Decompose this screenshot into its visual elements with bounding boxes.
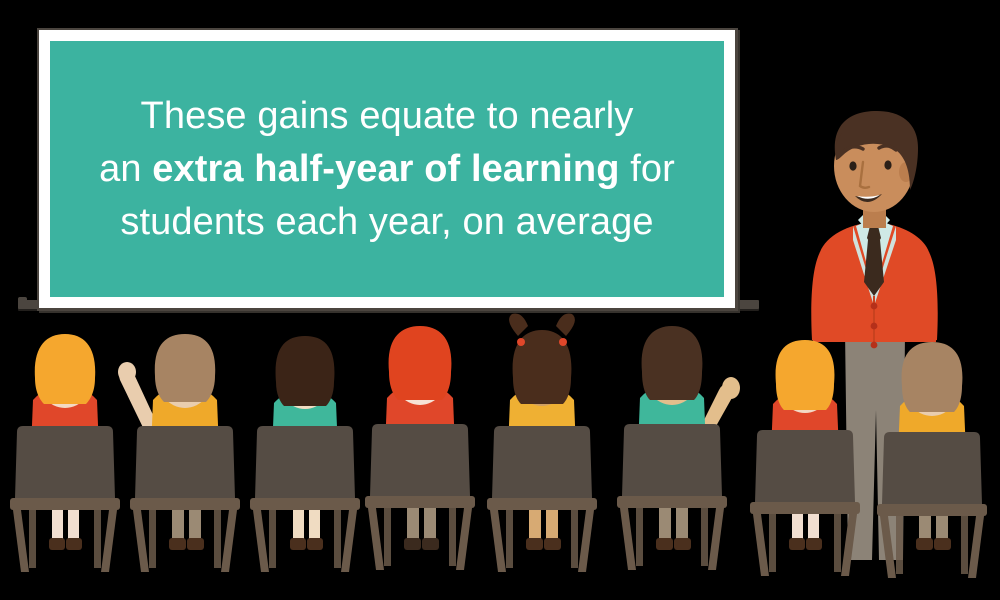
teacher-cardigan [811, 214, 937, 348]
board-line-1: These gains equate to nearly [64, 90, 710, 143]
raised-hand [118, 362, 136, 382]
student-5 [487, 314, 597, 573]
board-text-segment: for [620, 148, 675, 190]
shoe [290, 538, 306, 550]
shoe [916, 538, 933, 550]
student-hair [389, 326, 452, 400]
student-hair [276, 336, 335, 406]
shoe [789, 538, 805, 550]
chair [750, 430, 860, 576]
teacher-eye [849, 161, 856, 170]
board-outer-frame: These gains equate to nearlyan extra hal… [37, 28, 738, 311]
student-3 [250, 336, 360, 572]
student-hair [155, 334, 215, 402]
pigtail-left [509, 314, 528, 337]
board-text-segment: students each year, on average [120, 201, 653, 243]
chair [487, 426, 597, 572]
board-face: These gains equate to nearlyan extra hal… [50, 41, 724, 297]
shoe [422, 538, 439, 550]
teacher-eye [884, 160, 891, 169]
student-hair [35, 334, 95, 404]
student-7 [750, 340, 860, 576]
cardigan-button [871, 342, 878, 349]
board-text-segment: an [99, 148, 152, 190]
student-1 [10, 334, 120, 572]
board-message: These gains equate to nearlyan extra hal… [50, 90, 724, 249]
cardigan-button [871, 323, 878, 330]
shoe [674, 538, 691, 550]
message-board: These gains equate to nearlyan extra hal… [37, 28, 738, 311]
board-emphasis: extra half-year of learning [152, 148, 619, 190]
student-2 [118, 334, 240, 572]
student-6 [617, 326, 740, 570]
shoe [66, 538, 82, 550]
raised-hand [722, 377, 740, 399]
shoe [526, 538, 543, 550]
chair [10, 426, 120, 572]
hair-tie [559, 338, 567, 346]
shoe [656, 538, 673, 550]
shoe [934, 538, 951, 550]
shoe [404, 538, 421, 550]
board-line-2: an extra half-year of learning for [64, 143, 710, 196]
student-hair [776, 340, 835, 410]
shoe [544, 538, 561, 550]
shoe [169, 538, 186, 550]
board-line-3: students each year, on average [64, 196, 710, 249]
chair [130, 426, 240, 572]
student-hair [902, 342, 963, 412]
student-4 [365, 326, 475, 570]
board-text-segment: These gains equate to nearly [141, 95, 634, 137]
board-white-frame: These gains equate to nearlyan extra hal… [39, 30, 735, 308]
cardigan-button [871, 303, 878, 310]
shoe [49, 538, 65, 550]
hair-tie [517, 338, 525, 346]
teacher-head [834, 111, 918, 212]
illustration-canvas: These gains equate to nearlyan extra hal… [0, 0, 1000, 600]
shoe [806, 538, 822, 550]
student-hair [642, 326, 703, 400]
pigtail-right [556, 314, 575, 337]
chair [250, 426, 360, 572]
shoe [187, 538, 204, 550]
shoe [307, 538, 323, 550]
